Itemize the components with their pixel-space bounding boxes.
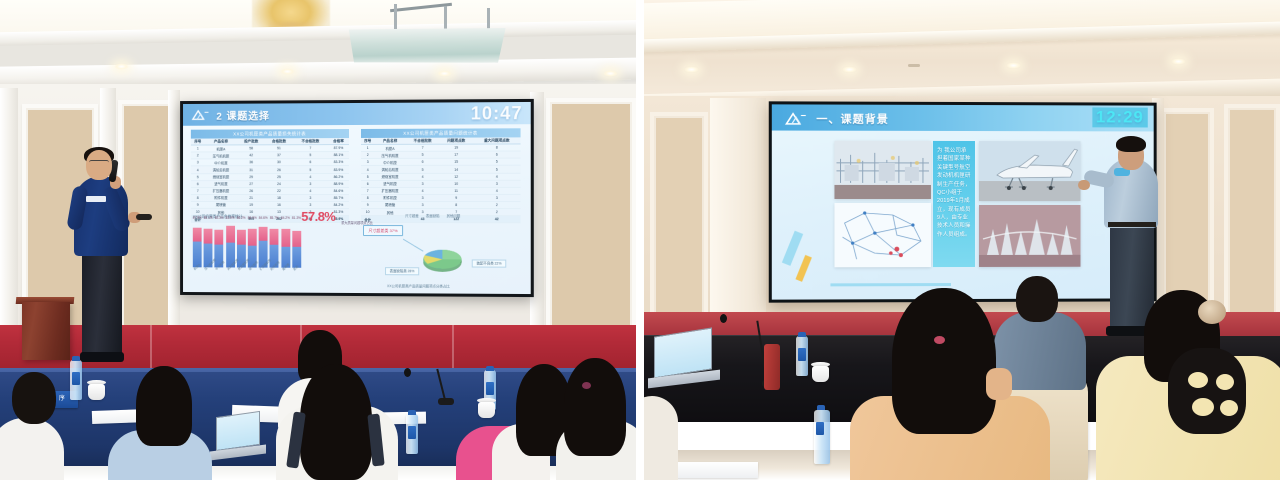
table-cell: 中介机匣 xyxy=(374,159,406,166)
left-ceiling xyxy=(0,0,636,96)
table-cell: 4 xyxy=(406,173,440,180)
table-cell: 4 xyxy=(361,166,374,173)
clicker-remote xyxy=(136,214,152,220)
table-cell: 扩压器机匣 xyxy=(205,187,238,194)
table-cell: 84.2% xyxy=(328,201,349,208)
left-photo: 2 课题选择 10:47 XX公司机匣类产品质量损失统计表 序号产品名称投产批数… xyxy=(0,0,636,480)
table-cell: 17 xyxy=(439,151,473,158)
table-cell: 25 xyxy=(265,173,293,180)
tshirt-graphic-hole-2 xyxy=(1216,374,1234,390)
water-bottle-1 xyxy=(70,360,82,400)
table-cell: 9 xyxy=(439,194,473,201)
table-cell: 19 xyxy=(237,201,265,208)
bar-column: 84.2% xyxy=(281,222,290,268)
table-row: 6进气机匣3103 xyxy=(361,180,521,187)
bar-column: 87.9% xyxy=(193,222,202,268)
bottle-cap-2 xyxy=(486,366,494,371)
audience-right-hair-front xyxy=(892,288,996,434)
table-cell: 燃烧室机匣 xyxy=(374,173,406,180)
background-text: 为 我公司承担着国家某种关键型号航空发动机机匣研制生产任务，QC小组于2019年… xyxy=(937,148,971,238)
table-cell: 5 xyxy=(473,166,520,173)
table-cell: 4 xyxy=(293,187,328,194)
wall-pilaster-r-left xyxy=(710,98,766,330)
bottle-cap-r2 xyxy=(817,405,825,410)
wall-panel-r2 xyxy=(1160,108,1214,320)
table-cell: 42 xyxy=(237,152,265,159)
presenter-shoes xyxy=(80,352,124,362)
water-bottle-3 xyxy=(406,414,418,454)
table-cell: 29 xyxy=(237,173,265,180)
table-cell: 18 xyxy=(265,194,293,201)
table-cell: 3 xyxy=(293,194,328,201)
table-cell: 进气机匣 xyxy=(205,180,238,187)
bar-value-label: 84.6% xyxy=(259,216,268,220)
table-cell: 37 xyxy=(265,152,293,159)
table-cell: 85.7% xyxy=(328,194,349,201)
presenter-right-hand xyxy=(1078,180,1090,190)
background-text-column: 为 我公司承担着国家某种关键型号航空发动机机匣研制生产任务，QC小组于2019年… xyxy=(933,141,975,267)
table-cell: 燃烧室机匣 xyxy=(205,173,238,180)
photo-collage: 2 课题选择 10:47 XX公司机匣类产品质量损失统计表 序号产品名称投产批数… xyxy=(0,0,1280,480)
bar-value-label: 81.3% xyxy=(292,216,301,220)
downlight-1 xyxy=(114,63,129,70)
table-cell: 4 xyxy=(473,173,520,180)
table-cell: 5 xyxy=(361,173,374,180)
table-cell: 8 xyxy=(361,194,374,201)
ceiling-vent xyxy=(908,64,920,67)
callout-tertiary-text: 装配不良类 22% xyxy=(476,261,501,265)
decor-ribbon-gold-1 xyxy=(795,255,811,282)
table-cell: 10 xyxy=(439,180,473,187)
pie-legend-item-0: 尺寸超差 xyxy=(405,213,419,218)
table-cell: 83.3% xyxy=(328,159,349,166)
presenter-right-belt xyxy=(1108,222,1156,227)
thermos-bottle xyxy=(764,344,780,390)
network-diagram-content xyxy=(834,203,931,267)
table-cell: 4 xyxy=(406,187,440,194)
mic-head-1 xyxy=(404,368,411,377)
table-cell: 30 xyxy=(265,159,293,166)
table-cell: 8 xyxy=(439,201,473,208)
tshirt-graphic xyxy=(1168,348,1246,434)
ceiling-projector-icon xyxy=(344,27,505,66)
downlight-r1 xyxy=(684,66,699,73)
table-row: 9尾喷管382 xyxy=(361,201,521,208)
table-cell: 3 xyxy=(293,201,328,208)
presenter-head xyxy=(86,150,112,180)
water-bottle-r1 xyxy=(796,336,808,376)
table-cell: 5 xyxy=(293,166,328,173)
downlight-2 xyxy=(280,68,295,75)
table-cell: 涡轮后机匣 xyxy=(205,166,238,173)
bottle-cap-r1 xyxy=(798,332,806,337)
bar-value-label: 84.2% xyxy=(281,216,290,220)
aircraft-photo xyxy=(979,141,1081,201)
slide-title-right: 一、课题背景 xyxy=(816,111,889,127)
hair-tie-right xyxy=(934,336,945,344)
audience-right-hand xyxy=(986,368,1012,400)
bar-segment-upper xyxy=(248,229,257,246)
table-cell: 27 xyxy=(237,180,265,187)
table-row: 8附件机匣2118385.7% xyxy=(191,194,349,201)
bar-segment-upper xyxy=(270,228,279,244)
table-cell: 36 xyxy=(237,159,265,166)
table-cell: 88.1% xyxy=(328,152,349,159)
callout-secondary-text: 表面缺陷类 28% xyxy=(390,269,415,273)
wall-panel-3 xyxy=(546,98,636,346)
table-cell: 84.6% xyxy=(328,187,349,194)
bar-segment-upper xyxy=(237,230,246,246)
workshop-photo-content xyxy=(834,141,931,199)
table-cell: 87.9% xyxy=(328,145,349,152)
table-cell: 4 xyxy=(191,166,205,173)
table-cell: 2 xyxy=(473,201,520,208)
table-cell: 3 xyxy=(293,180,328,187)
slide-timer-left: 10:47 xyxy=(471,103,523,124)
table-cell: 附件机匣 xyxy=(374,194,406,201)
table-cell: 9 xyxy=(191,201,205,208)
audience-right-head-back xyxy=(1016,276,1058,322)
callout-tertiary: 装配不良类 22% xyxy=(472,259,507,267)
callout-secondary: 表面缺陷类 28% xyxy=(385,267,419,275)
table-cell: 3 xyxy=(406,180,440,187)
slide-title-left: 2 课题选择 xyxy=(216,107,270,122)
wall-panel-r3 xyxy=(1224,104,1280,318)
bar-chart-plot: 87.9%88.1%83.3%83.9%86.2%88.9%84.6%85.7%… xyxy=(193,222,351,268)
bar-value-label: 83.9% xyxy=(226,216,235,220)
table-cell: 31 xyxy=(237,166,265,173)
pie-legend-item-2: 其他问题 xyxy=(447,213,461,218)
projector-arm-1 xyxy=(394,4,397,30)
table-cell: 扩压器机匣 xyxy=(374,187,406,194)
bar-value-label: 88.9% xyxy=(248,216,257,220)
table-cell: 5 xyxy=(406,166,440,173)
table-cell: 3 xyxy=(406,194,440,201)
engine-photo xyxy=(979,205,1081,267)
downlight-r3 xyxy=(1006,62,1021,69)
teacup-1 xyxy=(88,384,105,400)
table-cell: 24 xyxy=(265,180,293,187)
bar-chart-xaxis: 机匣A压气机机匣中介机匣涡轮后机匣燃烧室机匣进气机匣扩压器机匣附件机匣尾喷管其他 xyxy=(193,268,351,273)
presenter-right-hair xyxy=(1116,136,1146,152)
slide-canvas-right: 一、课题背景 12:29 xyxy=(772,104,1154,299)
table-cell: 14 xyxy=(439,166,473,173)
bar-value-label: 86.2% xyxy=(237,216,246,220)
downlight-3 xyxy=(437,70,452,77)
downlight-r4 xyxy=(1171,58,1186,65)
bar-segment-upper xyxy=(259,227,268,241)
bar-segment-upper xyxy=(204,228,213,243)
callout-primary-text: 尺寸超差类 37% xyxy=(368,228,397,233)
highlight-percent: 57.8% xyxy=(301,209,335,224)
table-cell: 11 xyxy=(439,187,473,194)
engine-photo-content xyxy=(979,205,1081,267)
table-cell: 中介机匣 xyxy=(205,159,238,166)
table-cell: 86.2% xyxy=(328,173,349,180)
table-cell: 8 xyxy=(191,194,205,201)
table-cell: 2 xyxy=(191,152,205,159)
tshirt-graphic-hole-1 xyxy=(1188,372,1208,388)
decor-ribbon-cyan-1 xyxy=(782,231,803,266)
bar-value-label: 83.3% xyxy=(215,216,224,220)
table-cell: 7 xyxy=(191,187,205,194)
table-cell: 51 xyxy=(265,145,293,152)
table-cell: 26 xyxy=(265,166,293,173)
table-cell: 3 xyxy=(191,159,205,166)
table-cell: 19 xyxy=(439,144,473,151)
decor-underline xyxy=(830,283,951,286)
table-cell: 21 xyxy=(237,194,265,201)
table-cell: 6 xyxy=(473,151,520,158)
bar-value-label: 85.7% xyxy=(270,216,279,220)
table-row: 6进气机匣2724388.9% xyxy=(191,180,349,187)
audience-hair-6 xyxy=(564,358,626,456)
tshirt-graphic-hole-3 xyxy=(1192,398,1214,416)
mountain-logo-icon-right xyxy=(784,110,808,126)
table-row: 7扩压器机匣4114 xyxy=(361,187,521,194)
table-cell: 5 xyxy=(293,152,328,159)
bar-segment-upper xyxy=(226,226,235,243)
table-cell: 1 xyxy=(361,145,374,152)
panel-gutter xyxy=(636,0,644,480)
water-bottle-r2 xyxy=(814,410,830,464)
table-cell: 机匣A xyxy=(374,145,406,152)
table-cell: 尾喷管 xyxy=(205,201,238,208)
table-cell: 3 xyxy=(473,180,520,187)
lectern xyxy=(22,302,70,360)
teacup-2 xyxy=(478,402,495,418)
table-cell: 6 xyxy=(361,180,374,187)
table-cell: 6 xyxy=(293,159,328,166)
hair-accessory xyxy=(1198,300,1226,324)
network-diagram xyxy=(834,203,931,267)
bar-segment-upper xyxy=(193,227,202,241)
tshirt-graphic-hole-4 xyxy=(1220,400,1238,416)
table-cell: 1 xyxy=(191,145,205,152)
table-cell: 12 xyxy=(439,173,473,180)
table-cell: 4 xyxy=(473,187,520,194)
eyeglasses-icon xyxy=(89,160,109,165)
table-cell: 6 xyxy=(191,180,205,187)
table-cell: 7 xyxy=(361,187,374,194)
teacup-r1 xyxy=(812,366,829,382)
paper-right-1 xyxy=(674,462,758,478)
table-cell: 3 xyxy=(406,201,440,208)
pie-chart-block: 尺寸超差 表面缺陷 其他问题 尺寸超差类 37% xyxy=(359,215,521,292)
pie-chart-3d xyxy=(415,237,470,277)
pie-chart-caption: XX公司机匣类产品质量问题项点分类占比 xyxy=(387,283,450,288)
table-cell: 4 xyxy=(293,173,328,180)
mic-head-right xyxy=(720,314,727,323)
table-cell: 88.9% xyxy=(328,180,349,187)
projection-screen-right: 一、课题背景 12:29 xyxy=(769,101,1157,302)
table-cell: 7 xyxy=(406,144,440,151)
table-cell: 5 xyxy=(191,173,205,180)
bar-segment-upper xyxy=(215,229,224,244)
bar-value-label: 88.1% xyxy=(204,216,213,220)
table-cell: 83.9% xyxy=(328,166,349,173)
audience-hair-2 xyxy=(136,366,192,446)
table-cell: 压气机机匣 xyxy=(374,152,406,159)
bar-value-label: 87.9% xyxy=(193,216,202,220)
workshop-photo xyxy=(834,141,931,199)
table-cell: 15 xyxy=(439,159,473,166)
pie-legend: 尺寸超差 表面缺陷 其他问题 xyxy=(405,213,460,218)
audience-head-1 xyxy=(12,372,56,424)
hair-tie-6 xyxy=(582,382,591,389)
quality-issue-table-box: XX公司机匣类产品质量问题统计表 序号产品名称不合格批数问题项点数重大问题项点数… xyxy=(361,128,521,223)
wall-panel-r1 xyxy=(650,112,708,322)
table-cell: 16 xyxy=(265,201,293,208)
mountain-logo-icon xyxy=(191,108,211,122)
table-cell: 涡轮后机匣 xyxy=(374,166,406,173)
table-cell: 3 xyxy=(473,194,520,201)
bottle-cap-1 xyxy=(72,356,80,361)
projector-arm-2 xyxy=(444,6,447,30)
table-cell: 附件机匣 xyxy=(205,194,238,201)
table-cell: 9 xyxy=(361,201,374,208)
audience-right-torso-edge xyxy=(644,396,678,480)
table-cell: 2 xyxy=(361,152,374,159)
callout-primary: 尺寸超差类 37% xyxy=(363,225,403,236)
aircraft-photo-content xyxy=(979,141,1081,201)
table-row: 8附件机匣393 xyxy=(361,194,521,201)
projection-screen-left: 2 课题选择 10:47 XX公司机匣类产品质量损失统计表 序号产品名称投产批数… xyxy=(180,99,534,297)
table-cell: 58 xyxy=(237,145,265,152)
table-row: 7扩压器机匣2622484.6% xyxy=(191,187,349,194)
right-photo: 一、课题背景 12:29 xyxy=(644,0,1280,480)
downlight-r2 xyxy=(842,66,857,73)
bar-column: 81.3% xyxy=(292,222,301,268)
table-cell: 26 xyxy=(237,187,265,194)
table-cell: 5 xyxy=(406,152,440,159)
bar-segment-upper xyxy=(292,230,301,247)
quality-issue-table: 序号产品名称不合格批数问题项点数重大问题项点数 1机匣A71982压气机机匣51… xyxy=(361,137,521,223)
table-cell: 进气机匣 xyxy=(374,180,406,187)
audience-hair-4 xyxy=(300,364,372,480)
bar-segment-upper xyxy=(281,229,290,247)
pie-legend-item-1: 表面缺陷 xyxy=(426,213,440,218)
slide-timer-right: 12:29 xyxy=(1092,107,1148,127)
table-cell: 尾喷管 xyxy=(374,201,406,208)
bottle-cap-3 xyxy=(408,410,416,415)
table-cell: 3 xyxy=(361,159,374,166)
presenter-trousers xyxy=(82,250,122,358)
presenter-badge xyxy=(86,196,106,202)
table-cell: 6 xyxy=(406,159,440,166)
downlight-4 xyxy=(603,70,618,77)
slide-canvas-left: 2 课题选择 10:47 XX公司机匣类产品质量损失统计表 序号产品名称投产批数… xyxy=(183,102,531,294)
table-cell: 5 xyxy=(473,158,520,165)
table-cell: 22 xyxy=(265,187,293,194)
